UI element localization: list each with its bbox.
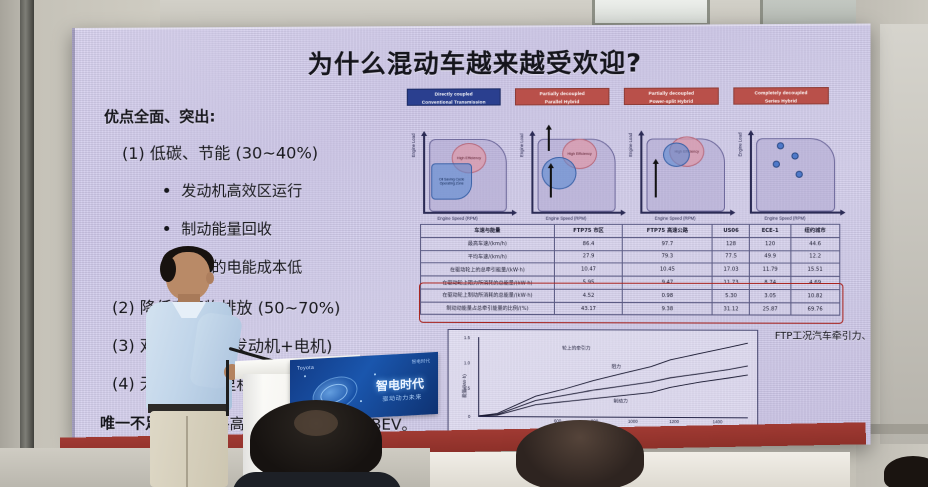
table-row-4-cell-2: 5.30 bbox=[712, 289, 750, 302]
shift-arrow-icon bbox=[655, 163, 657, 198]
operating-zone-region bbox=[542, 157, 577, 189]
table-row-2-cell-4: 15.51 bbox=[790, 263, 839, 276]
table-row-3-cell-2: 11.73 bbox=[712, 276, 750, 289]
table-body: 车速与能量 FTP75 市区 FTP75 高速公路 US06 ECE-1 纽约城… bbox=[421, 224, 840, 315]
diagram-panel-0-line2: Conventional Transmission bbox=[408, 98, 500, 106]
table-row-1-cell-4: 12.2 bbox=[790, 250, 839, 263]
table-row-5-cell-1: 9.38 bbox=[623, 302, 713, 315]
presenter-ear bbox=[206, 272, 214, 284]
table-row: 最高车速/(km/h) 86.4 97.7 128 120 44.6 bbox=[421, 237, 840, 250]
chart-ytick-3: 1.5 bbox=[464, 335, 470, 340]
banner-logo: Toyota bbox=[297, 365, 314, 372]
chart-xtick-4: 1400 bbox=[713, 419, 723, 424]
diagram-panel-1-ylabel: Engine Load bbox=[519, 133, 524, 157]
chart-xtick-3: 1200 bbox=[669, 419, 679, 424]
microphone-stand bbox=[226, 360, 229, 416]
table-row-0-cell-1: 97.7 bbox=[623, 237, 713, 250]
bullet-dot-icon bbox=[164, 225, 169, 230]
diagram-y-axis bbox=[640, 134, 642, 213]
front-row-attendee-center bbox=[516, 420, 644, 487]
table-row-0-cell-3: 120 bbox=[750, 237, 791, 250]
presenter-hair-side bbox=[160, 256, 176, 282]
operating-zone-region: Oil Saving Cycle Operating Zone bbox=[431, 163, 472, 199]
window-left bbox=[592, 0, 710, 26]
diagram-panel-3-line2: Series Hybrid bbox=[734, 97, 827, 105]
wall-edge-left bbox=[0, 0, 22, 487]
diagram-x-axis bbox=[423, 212, 513, 214]
right-wall-sill bbox=[868, 424, 928, 434]
table-corner-label: 车速与能量 bbox=[421, 224, 555, 237]
slide-subbullet-2-label: 制动能量回收 bbox=[181, 220, 272, 238]
banner-dot bbox=[304, 375, 306, 377]
diagram-panel-2-ylabel: Engine Load bbox=[628, 133, 633, 157]
operating-point-dot bbox=[796, 171, 803, 178]
table-row-4-cell-0: 4.52 bbox=[554, 289, 622, 302]
diagram-panel-1-header: Partially decoupled Parallel Hybrid bbox=[515, 88, 609, 106]
hybrid-architecture-diagram-strip: Directly coupled Conventional Transmissi… bbox=[405, 87, 837, 215]
table-row: 在驱动轮上阻力所消耗的总能量/(kW·h) 5.95 9.47 11.73 8.… bbox=[421, 276, 840, 290]
table-row-4-cell-1: 0.98 bbox=[623, 289, 713, 302]
table-row-2-cell-3: 11.79 bbox=[750, 263, 791, 276]
right-wall-panel bbox=[880, 24, 928, 444]
slide-subbullet-2: 制动能量回收 bbox=[164, 218, 272, 239]
operating-point-dot bbox=[791, 152, 798, 159]
chart-ytick-0: 0 bbox=[468, 414, 470, 419]
table-row-1-cell-1: 79.3 bbox=[623, 250, 713, 263]
table-row-2-cell-1: 10.45 bbox=[623, 263, 713, 276]
door-frame bbox=[20, 0, 34, 487]
table-col-4: 纽约城市 bbox=[790, 224, 839, 237]
slide-point-1: (1) 低碳、节能 (30~40%) bbox=[122, 139, 318, 164]
screenshot-root: 为什么混动车越来越受欢迎? 优点全面、突出: (1) 低碳、节能 (30~40%… bbox=[0, 0, 928, 487]
table-header-row: 车速与能量 FTP75 市区 FTP75 高速公路 US06 ECE-1 纽约城… bbox=[421, 224, 840, 237]
front-row-attendee-left bbox=[250, 400, 382, 487]
table-row: 在驱动轮上的总牵引能量/(kW·h) 10.47 10.45 17.03 11.… bbox=[421, 263, 840, 276]
diagram-x-axis bbox=[750, 212, 841, 214]
diagram-panel-1-plot: High Efficiency Engine Load Engine Speed… bbox=[523, 112, 611, 187]
diagram-panel-2-plot: High Efficiency Engine Load Engine Speed… bbox=[632, 112, 721, 187]
table-row-3-cell-3: 8.74 bbox=[750, 276, 791, 289]
table-row-2-cell-0: 10.47 bbox=[554, 263, 622, 276]
diagram-panel-3-ylabel: Engine Load bbox=[737, 133, 742, 157]
table-row-0-cell-0: 86.4 bbox=[554, 237, 622, 250]
table-row-1-cell-2: 77.5 bbox=[712, 250, 750, 263]
diagram-y-axis bbox=[531, 135, 533, 214]
table-row-5-label: 制动动能量占总牵引能量的比例/(%) bbox=[421, 302, 555, 315]
table-row-3-label: 在驱动轮上阻力所消耗的总能量/(kW·h) bbox=[421, 276, 555, 289]
diagram-panel-0: Directly coupled Conventional Transmissi… bbox=[405, 88, 507, 215]
diagram-panel-2-xlabel: Engine Speed (RPM) bbox=[655, 216, 696, 221]
diagram-panel-3-header: Completely decoupled Series Hybrid bbox=[733, 87, 829, 105]
chart-ytick-1: 0.5 bbox=[464, 386, 470, 391]
presenter-trouser-seam bbox=[186, 416, 188, 487]
diagram-panel-0-ylabel: Engine Load bbox=[411, 134, 416, 158]
diagram-panel-0-xlabel: Engine Speed (RPM) bbox=[437, 216, 477, 221]
table-row-3-cell-0: 5.95 bbox=[554, 276, 622, 289]
chart-y-axis bbox=[478, 337, 479, 416]
chart-series-2-annotation: 制动力 bbox=[614, 398, 628, 404]
table-row: 在驱动轮上制动所消耗的总能量/(kW·h) 4.52 0.98 5.30 3.0… bbox=[421, 289, 840, 303]
table-row-3-cell-1: 9.47 bbox=[623, 276, 713, 289]
attendee-scalp bbox=[294, 410, 338, 436]
shift-arrow-icon bbox=[548, 129, 550, 151]
diagram-panel-1-xlabel: Engine Speed (RPM) bbox=[546, 216, 587, 221]
table-col-2: US06 bbox=[712, 224, 750, 237]
diagram-panel-0-plot: High Efficiency Oil Saving Cycle Operati… bbox=[415, 113, 503, 188]
operating-point-dot bbox=[777, 142, 784, 149]
table-row-0-cell-4: 44.6 bbox=[790, 237, 839, 250]
table-row-3-cell-4: 4.69 bbox=[790, 276, 839, 289]
table-row-5-cell-3: 25.87 bbox=[750, 302, 791, 315]
screen-left-edge bbox=[72, 28, 75, 440]
table-row: 制动动能量占总牵引能量的比例/(%) 43.17 9.38 31.12 25.8… bbox=[421, 302, 840, 316]
attendee-hair bbox=[884, 456, 928, 487]
slide-lead-text: 优点全面、突出: bbox=[104, 105, 215, 126]
bullet-dot-icon bbox=[164, 187, 169, 192]
table-row-1-cell-3: 49.9 bbox=[750, 250, 791, 263]
table-row-5-cell-0: 43.17 bbox=[554, 302, 622, 315]
shift-arrow-icon bbox=[550, 167, 552, 197]
diagram-panel-2-line2: Power-split Hybrid bbox=[625, 97, 718, 105]
diagram-panel-1: Partially decoupled Parallel Hybrid High… bbox=[513, 88, 616, 215]
table-row-1-cell-0: 27.9 bbox=[554, 250, 622, 263]
table-row-4-cell-4: 10.82 bbox=[790, 289, 839, 302]
banner-logo-right: 智电时代 bbox=[412, 358, 430, 365]
front-row-attendee-right bbox=[884, 456, 928, 487]
table-element: 车速与能量 FTP75 市区 FTP75 高速公路 US06 ECE-1 纽约城… bbox=[420, 224, 840, 316]
diagram-panel-3-xlabel: Engine Speed (RPM) bbox=[764, 216, 805, 221]
table-row-2-label: 在驱动轮上的总牵引能量/(kW·h) bbox=[421, 263, 555, 276]
table-col-0: FTP75 市区 bbox=[554, 224, 622, 237]
attendee-shoulders bbox=[232, 472, 402, 487]
diagram-y-axis bbox=[423, 135, 425, 214]
table-row-0-cell-2: 128 bbox=[712, 237, 750, 250]
operating-point-dot bbox=[773, 161, 780, 168]
table-row-4-label: 在驱动轮上制动所消耗的总能量/(kW·h) bbox=[421, 289, 555, 302]
table-row: 平均车速/(km/h) 27.9 79.3 77.5 49.9 12.2 bbox=[421, 250, 840, 263]
diagram-panel-3-plot: Engine Load Engine Speed (RPM) bbox=[742, 112, 831, 188]
table-col-3: ECE-1 bbox=[750, 224, 791, 237]
banner-subtitle: 驱动动力未来 bbox=[382, 392, 422, 403]
chart-series-1-annotation: 阻力 bbox=[611, 364, 620, 370]
diagram-panel-2-header: Partially decoupled Power-split Hybrid bbox=[624, 87, 719, 105]
diagram-panel-1-line2: Parallel Hybrid bbox=[516, 98, 608, 106]
table-col-1: FTP75 高速公路 bbox=[623, 224, 713, 237]
table-row-4-cell-3: 3.05 bbox=[750, 289, 791, 302]
diagram-panel-2: Partially decoupled Power-split Hybrid H… bbox=[622, 87, 725, 214]
table-row-1-label: 平均车速/(km/h) bbox=[421, 250, 555, 263]
table-row-2-cell-2: 17.03 bbox=[712, 263, 750, 276]
presenter-trousers bbox=[150, 411, 228, 487]
table-row-5-cell-4: 69.76 bbox=[790, 303, 839, 316]
diagram-panel-0-header: Directly coupled Conventional Transmissi… bbox=[407, 88, 501, 106]
slide-title: 为什么混动车越来越受欢迎? bbox=[241, 43, 711, 82]
banner-dot bbox=[374, 373, 376, 375]
diagram-panel-3: Completely decoupled Series Hybrid Engin… bbox=[731, 87, 835, 215]
chart-caption: FTP工况汽车牵引力、阻力和制动力消耗能量变化 bbox=[775, 330, 864, 345]
slide-subbullet-1: 发动机高效区运行 bbox=[164, 180, 302, 201]
chart-series-0-annotation: 轮上的牵引力 bbox=[562, 345, 590, 351]
diagram-x-axis bbox=[531, 212, 621, 214]
table-row-0-label: 最高车速/(km/h) bbox=[421, 237, 555, 250]
operating-zone-region bbox=[663, 142, 690, 166]
slide-subbullet-1-label: 发动机高效区运行 bbox=[181, 182, 302, 200]
vehicle-energy-table: 车速与能量 FTP75 市区 FTP75 高速公路 US06 ECE-1 纽约城… bbox=[420, 224, 840, 316]
diagram-x-axis bbox=[640, 212, 731, 214]
attendee-hair bbox=[516, 420, 644, 487]
chart-ytick-2: 1.0 bbox=[464, 360, 470, 365]
table-row-5-cell-2: 31.12 bbox=[712, 302, 750, 315]
diagram-y-axis bbox=[750, 134, 752, 213]
